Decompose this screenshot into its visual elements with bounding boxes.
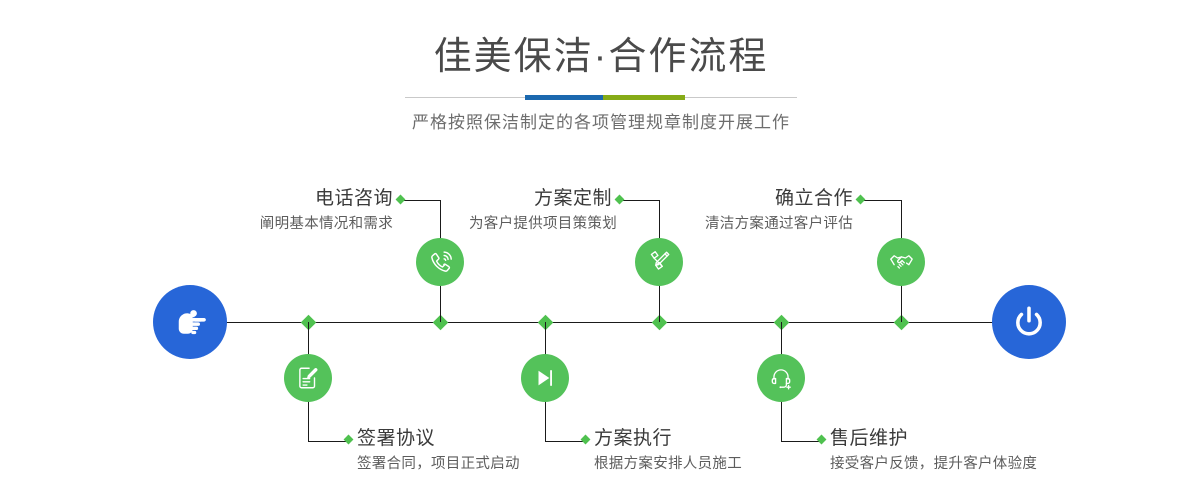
step-icon-circle[interactable]: [635, 238, 683, 286]
document-edit-icon: [295, 365, 321, 391]
step-title: 方案执行: [594, 427, 742, 451]
step-desc: 签署合同，项目正式启动: [357, 453, 520, 475]
headset-support-icon: [768, 365, 794, 391]
label-dot: [817, 435, 827, 445]
step-label: 方案执行 根据方案安排人员施工: [586, 427, 742, 475]
handshake-icon: [888, 249, 915, 276]
connector-horizontal: [308, 441, 349, 442]
step-label: 签署协议 签署合同，项目正式启动: [349, 427, 520, 475]
connector-horizontal: [781, 441, 822, 442]
label-dot: [581, 435, 591, 445]
page-subtitle: 严格按照保洁制定的各项管理规章制度开展工作: [0, 111, 1202, 135]
label-dot: [615, 195, 625, 205]
divider-segment-green: [603, 95, 685, 100]
step-desc: 接受客户反馈，提升客户体验度: [830, 453, 1037, 475]
step-label: 电话咨询 阐明基本情况和需求: [253, 187, 393, 235]
divider-segment-blue: [525, 95, 603, 100]
step-icon-circle[interactable]: [521, 354, 569, 402]
step-icon-circle[interactable]: [284, 354, 332, 402]
label-dot: [856, 195, 866, 205]
step-label: 售后维护 接受客户反馈，提升客户体验度: [822, 427, 1037, 475]
phone-call-icon: [427, 249, 454, 276]
label-dot: [344, 435, 354, 445]
step-title: 方案定制: [469, 187, 612, 211]
step-title: 售后维护: [830, 427, 1037, 451]
timeline-start-node[interactable]: [153, 285, 227, 359]
pencil-ruler-icon: [646, 249, 672, 275]
step-icon-circle[interactable]: [416, 238, 464, 286]
step-title: 电话咨询: [253, 187, 393, 211]
step-title: 签署协议: [357, 427, 520, 451]
connector-horizontal: [545, 441, 586, 442]
step-desc: 清洁方案通过客户评估: [705, 213, 853, 235]
step-desc: 根据方案安排人员施工: [594, 453, 742, 475]
step-label: 确立合作 清洁方案通过客户评估: [705, 187, 853, 235]
step-label: 方案定制 为客户提供项目策策划: [469, 187, 612, 235]
play-execute-icon: [532, 365, 558, 391]
title-divider: [405, 95, 797, 100]
step-title: 确立合作: [705, 187, 853, 211]
label-dot: [396, 195, 406, 205]
pointing-hand-icon: [170, 302, 210, 342]
connector-horizontal: [618, 200, 659, 201]
step-icon-circle[interactable]: [877, 238, 925, 286]
power-button-icon: [1008, 301, 1050, 343]
step-icon-circle[interactable]: [757, 354, 805, 402]
step-desc: 阐明基本情况和需求: [253, 213, 393, 235]
page-title: 佳美保洁·合作流程: [0, 32, 1202, 82]
connector-horizontal: [860, 200, 901, 201]
header: 佳美保洁·合作流程 严格按照保洁制定的各项管理规章制度开展工作: [0, 32, 1202, 135]
timeline-end-node[interactable]: [992, 285, 1066, 359]
connector-horizontal: [399, 200, 440, 201]
step-desc: 为客户提供项目策策划: [469, 213, 612, 235]
flowchart-canvas: 佳美保洁·合作流程 严格按照保洁制定的各项管理规章制度开展工作: [0, 0, 1202, 502]
